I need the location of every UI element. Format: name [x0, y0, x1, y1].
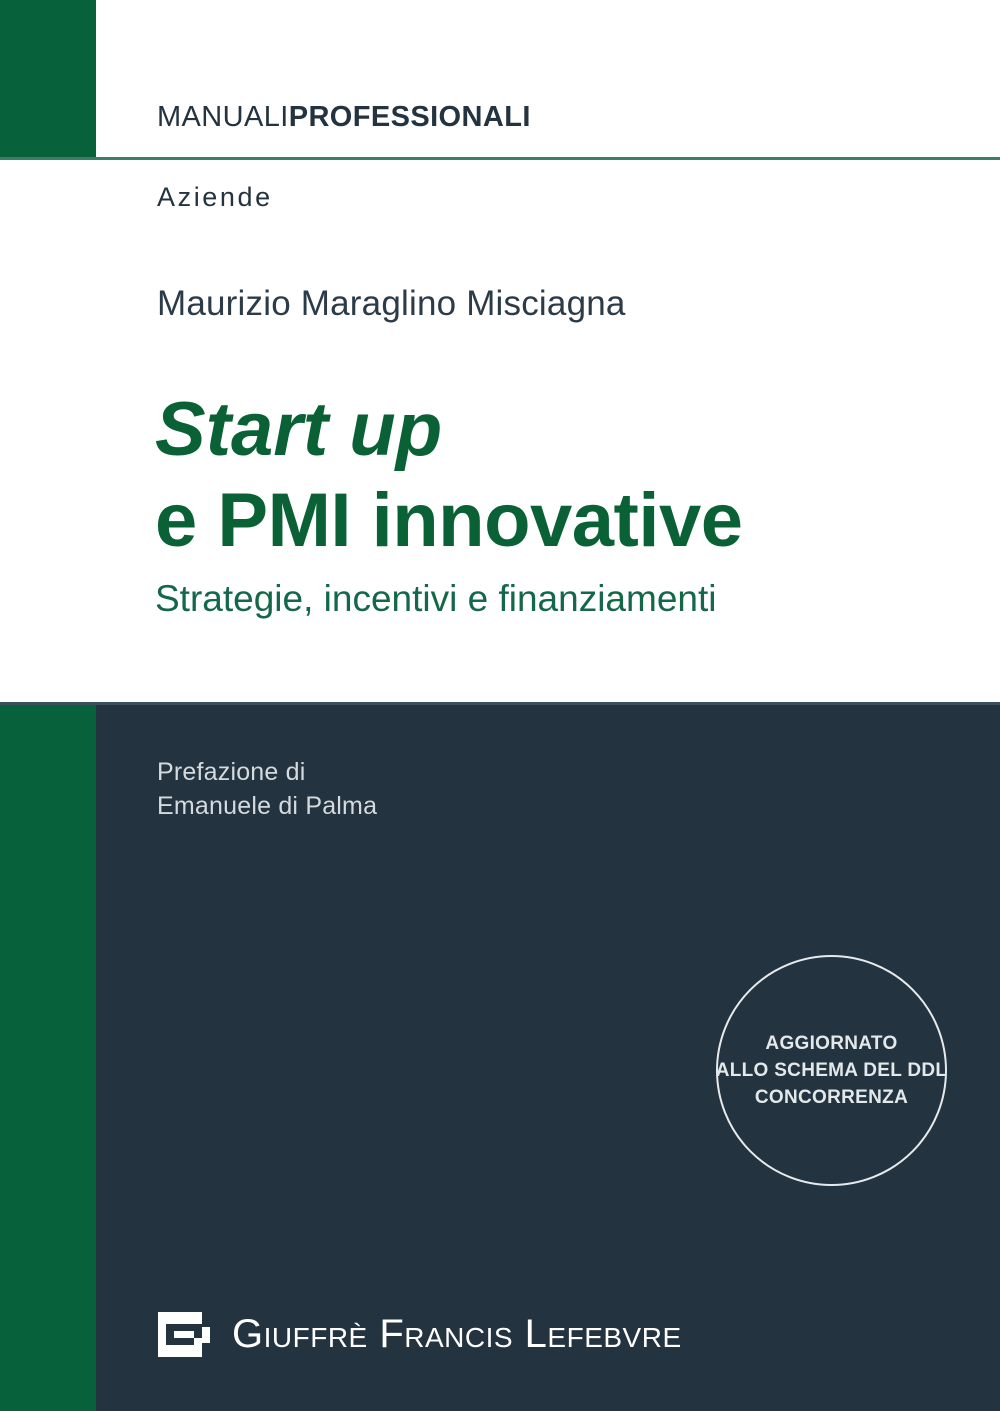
series-title-bold: PROFESSIONALI [289, 101, 531, 133]
update-badge-line-2: ALLO SCHEMA DEL DDL [716, 1057, 948, 1084]
green-divider-rule [0, 157, 1000, 160]
update-badge-line-1: AGGIORNATO [765, 1030, 897, 1057]
green-top-block [0, 0, 96, 157]
publisher-logo: Giuffrè Francis Lefebvre [158, 1312, 682, 1357]
series-category: Aziende [157, 180, 273, 214]
book-subtitle: Strategie, incentivi e finanziamenti [155, 576, 716, 622]
navy-top-rule [0, 702, 1000, 705]
book-cover: MANUALIPROFESSIONALI Aziende Maurizio Ma… [0, 0, 1000, 1411]
giuffre-g-logo-icon [158, 1312, 210, 1357]
book-author: Maurizio Maraglino Misciagna [157, 283, 626, 325]
update-badge-line-3: CONCORRENZA [755, 1084, 908, 1111]
series-title-light: MANUALI [157, 101, 289, 133]
preface-label: Prefazione di [157, 755, 377, 789]
publisher-name: Giuffrè Francis Lefebvre [232, 1312, 682, 1357]
preface-credit: Prefazione di Emanuele di Palma [157, 755, 377, 823]
green-left-bar [0, 705, 96, 1411]
preface-author: Emanuele di Palma [157, 789, 377, 823]
series-title: MANUALIPROFESSIONALI [157, 100, 531, 134]
book-title-line-2: e PMI innovative [155, 479, 743, 563]
book-title-line-1: Start up [155, 388, 442, 472]
update-badge: AGGIORNATO ALLO SCHEMA DEL DDL CONCORREN… [716, 955, 947, 1186]
